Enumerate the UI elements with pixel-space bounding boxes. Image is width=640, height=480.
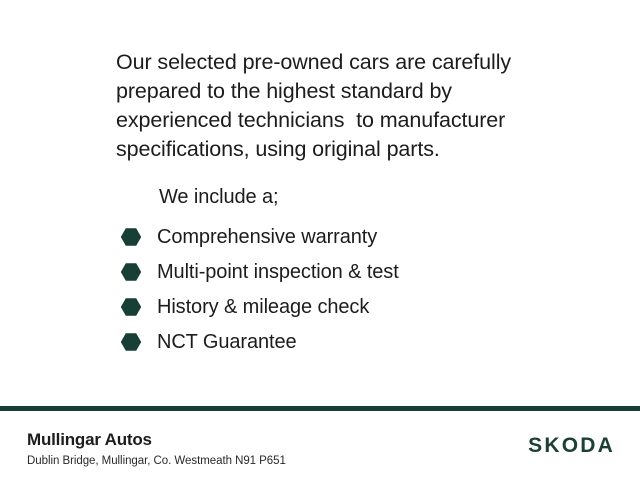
advert-page: Our selected pre-owned cars are carefull…: [0, 0, 640, 480]
headline-line-2: prepared to the highest standard by: [116, 77, 556, 106]
headline-line-3: experienced technicians to manufacturer: [116, 106, 556, 135]
feature-label: Multi-point inspection & test: [157, 260, 399, 284]
list-item: History & mileage check: [120, 289, 580, 324]
list-intro-text: We include a;: [159, 183, 279, 211]
feature-label: Comprehensive warranty: [157, 225, 377, 249]
list-item: Multi-point inspection & test: [120, 254, 580, 289]
headline-block: Our selected pre-owned cars are carefull…: [116, 48, 556, 164]
skoda-logo: SKODA: [528, 434, 615, 458]
list-item: NCT Guarantee: [120, 324, 580, 359]
feature-label: History & mileage check: [157, 295, 369, 319]
dealer-name: Mullingar Autos: [27, 429, 152, 450]
hexagon-bullet-icon: [120, 227, 142, 247]
headline-line-4: specifications, using original parts.: [116, 135, 556, 164]
feature-list: Comprehensive warranty Multi-point inspe…: [120, 219, 580, 359]
footer-bar: Mullingar Autos Dublin Bridge, Mullingar…: [0, 411, 640, 480]
dealer-address: Dublin Bridge, Mullingar, Co. Westmeath …: [27, 454, 286, 469]
headline-line-1: Our selected pre-owned cars are carefull…: [116, 48, 556, 77]
hexagon-bullet-icon: [120, 297, 142, 317]
feature-label: NCT Guarantee: [157, 330, 297, 354]
list-item: Comprehensive warranty: [120, 219, 580, 254]
hexagon-bullet-icon: [120, 262, 142, 282]
hexagon-bullet-icon: [120, 332, 142, 352]
